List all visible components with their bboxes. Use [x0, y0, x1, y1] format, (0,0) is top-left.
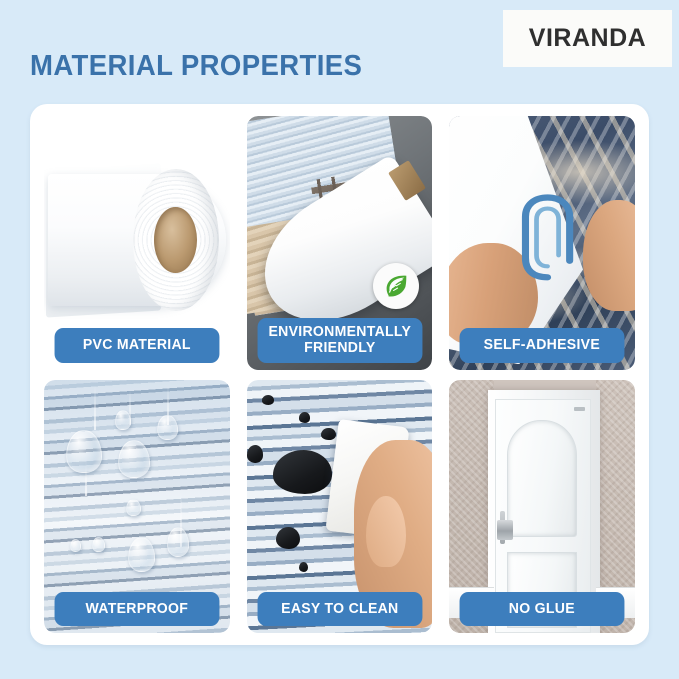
- stain-mark: [299, 562, 308, 572]
- door-panel-top-shape: [507, 420, 578, 537]
- brand-badge: VIRANDA: [503, 10, 672, 67]
- water-droplet: [66, 430, 101, 473]
- page-title: MATERIAL PROPERTIES: [30, 50, 362, 83]
- feature-card-easy-to-clean[interactable]: EASY TO CLEAN: [247, 380, 433, 634]
- thumb-shape: [366, 496, 407, 567]
- water-droplet: [115, 410, 132, 430]
- brand-name: VIRANDA: [529, 24, 646, 53]
- stain-mark: [247, 445, 264, 463]
- feature-label-self-adhesive: SELF-ADHESIVE: [460, 328, 625, 362]
- features-grid: PVC MATERIAL ENVIRONMENTALLY FRIENDLY: [44, 116, 635, 633]
- feature-card-no-glue[interactable]: NO GLUE: [449, 380, 635, 634]
- door-handle-shape: [497, 520, 514, 540]
- leaf-icon: [373, 263, 419, 309]
- roll-core-inner-shape: [154, 207, 197, 273]
- water-droplet: [157, 415, 177, 440]
- water-droplet: [126, 499, 141, 517]
- features-panel: PVC MATERIAL ENVIRONMENTALLY FRIENDLY: [30, 104, 649, 645]
- water-droplet: [167, 527, 189, 557]
- stain-mark: [273, 450, 332, 493]
- paperclip-icon: [516, 192, 579, 288]
- water-droplet: [92, 537, 105, 552]
- feature-card-waterproof[interactable]: WATERPROOF: [44, 380, 230, 634]
- feature-label-pvc-material: PVC MATERIAL: [55, 328, 220, 362]
- feature-label-environmentally-friendly: ENVIRONMENTALLY FRIENDLY: [257, 318, 422, 362]
- water-trail: [94, 385, 96, 431]
- stain-mark: [276, 527, 300, 550]
- water-droplet: [128, 537, 156, 572]
- feature-label-no-glue: NO GLUE: [460, 592, 625, 626]
- water-droplet: [70, 539, 81, 552]
- door-hinge-shape: [574, 407, 585, 411]
- feature-card-environmentally-friendly[interactable]: ENVIRONMENTALLY FRIENDLY: [247, 116, 433, 370]
- stain-mark: [299, 412, 310, 422]
- stain-mark: [321, 428, 336, 441]
- feature-card-pvc-material[interactable]: PVC MATERIAL: [44, 116, 230, 370]
- feature-card-self-adhesive[interactable]: SELF-ADHESIVE: [449, 116, 635, 370]
- feature-label-easy-to-clean: EASY TO CLEAN: [257, 592, 422, 626]
- feature-label-waterproof: WATERPROOF: [55, 592, 220, 626]
- stain-mark: [262, 395, 275, 405]
- water-droplet: [118, 440, 150, 478]
